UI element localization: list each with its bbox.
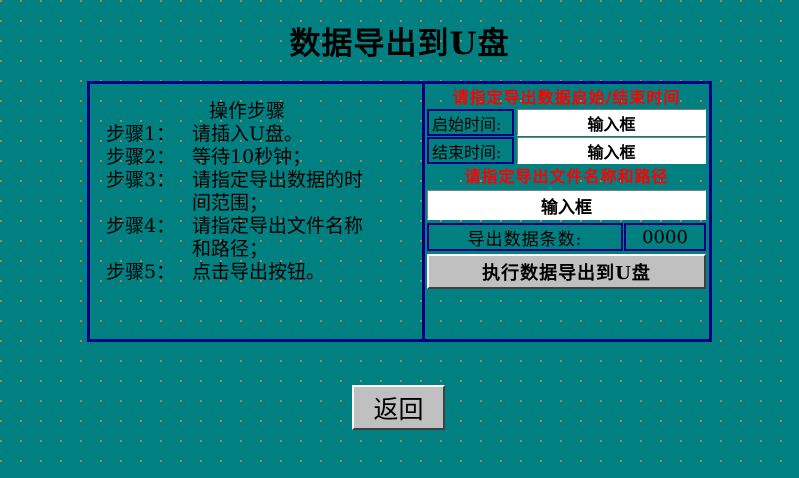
end-time-input[interactable]: 输入框 <box>517 137 706 164</box>
step-text-3: 请指定导出数据的时 <box>192 169 416 192</box>
step-text-2: 等待10秒钟； <box>192 146 416 169</box>
step-label-4: 步骤4： <box>106 215 192 238</box>
step-item-4: 步骤4： 请指定导出文件名称 <box>106 215 416 238</box>
step-item-5: 步骤5： 点击导出按钮。 <box>106 261 416 284</box>
step-label-2: 步骤2： <box>106 146 192 169</box>
step-text-1: 请插入U盘。 <box>192 123 416 146</box>
record-count-row: 导出数据条数: 0000 <box>427 223 706 251</box>
file-path-input[interactable]: 输入框 <box>427 190 706 220</box>
return-button[interactable]: 返回 <box>352 385 445 430</box>
step-label-1: 步骤1： <box>106 123 192 146</box>
export-form-panel: 请指定导出数据启始/结束时间 启始时间: 输入框 结束时间: 输入框 请指定导出… <box>425 84 709 339</box>
start-time-row: 启始时间: 输入框 <box>427 109 706 136</box>
record-count-label: 导出数据条数: <box>427 223 623 251</box>
steps-heading: 操作步骤 <box>106 100 416 122</box>
step-label-3: 步骤3： <box>106 169 192 192</box>
step-item-1: 步骤1： 请插入U盘。 <box>106 123 416 146</box>
step-item-2: 步骤2： 等待10秒钟； <box>106 146 416 169</box>
steps-panel: 操作步骤 步骤1： 请插入U盘。 步骤2： 等待10秒钟； 步骤3： 请指定导出… <box>90 84 422 339</box>
start-time-input[interactable]: 输入框 <box>517 109 706 136</box>
end-time-label: 结束时间: <box>427 137 514 164</box>
step-text-5: 点击导出按钮。 <box>192 261 416 284</box>
export-to-usb-button[interactable]: 执行数据导出到U盘 <box>427 254 706 289</box>
start-time-label: 启始时间: <box>427 109 514 136</box>
main-panel: 操作步骤 步骤1： 请插入U盘。 步骤2： 等待10秒钟； 步骤3： 请指定导出… <box>87 81 712 342</box>
end-time-row: 结束时间: 输入框 <box>427 137 706 164</box>
step-item-3: 步骤3： 请指定导出数据的时 <box>106 169 416 192</box>
step-label-5: 步骤5： <box>106 261 192 284</box>
page-title: 数据导出到U盘 <box>0 27 799 61</box>
time-range-header: 请指定导出数据启始/结束时间 <box>427 86 706 109</box>
file-path-header: 请指定导出文件名称和路径 <box>427 165 706 188</box>
step-text-3-continuation: 间范围； <box>106 192 416 215</box>
record-count-value: 0000 <box>624 223 706 251</box>
screen-root: 数据导出到U盘 操作步骤 步骤1： 请插入U盘。 步骤2： 等待10秒钟； 步骤… <box>0 0 799 478</box>
step-text-4-continuation: 和路径； <box>106 238 416 261</box>
step-text-4: 请指定导出文件名称 <box>192 215 416 238</box>
